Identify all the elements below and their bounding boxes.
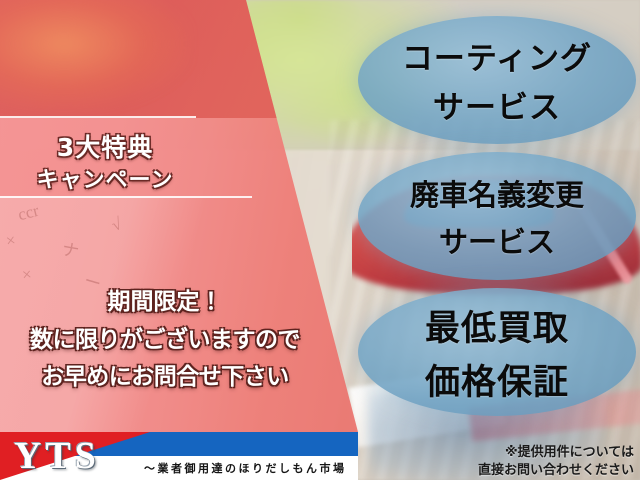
panel-top-glow [0, 0, 190, 110]
scribble-mark: × [5, 231, 17, 249]
divider-line-bottom [0, 196, 252, 198]
logo-wordmark: YTS [14, 434, 100, 478]
campaign-line-2: キャンペーン [0, 162, 210, 194]
benefit-oval-minimum-price-guarantee[interactable]: 最低買取 価格保証 [358, 288, 636, 416]
benefit-1-line-1: コーティング [402, 33, 592, 78]
promo-banner: ccr × ナ × ー √ 3大特典 キャンペーン 期間限定！ 数に限りがござい… [0, 0, 640, 480]
disclaimer-note: ※提供用件については 直接お問い合わせください [414, 444, 634, 479]
benefit-3-line-2: 価格保証 [425, 354, 569, 405]
benefit-1-line-2: サービス [433, 82, 561, 127]
limited-line-3: お早めにお問合せ下さい [0, 357, 330, 391]
benefit-oval-coating[interactable]: コーティング サービス [358, 16, 636, 144]
disclaimer-line-2: 直接お問い合わせください [414, 462, 634, 480]
scribble-mark: × [21, 266, 32, 284]
disclaimer-line-1: ※提供用件については [414, 444, 634, 462]
benefit-3-line-1: 最低買取 [425, 300, 569, 351]
logo-bar[interactable]: YTS 〜業者御用達のほりだしもん市場 [0, 432, 358, 480]
benefit-2-line-1: 廃車名義変更 [410, 172, 584, 214]
limited-line-1: 期間限定！ [0, 282, 330, 316]
benefit-2-line-2: サービス [439, 219, 555, 261]
limited-line-2: 数に限りがございますので [0, 320, 330, 354]
divider-line-top [0, 116, 196, 118]
benefit-oval-scrap-title-transfer[interactable]: 廃車名義変更 サービス [358, 152, 636, 280]
scribble-mark: ccr [16, 202, 40, 224]
scribble-mark: ナ [61, 241, 81, 261]
scribble-mark: √ [109, 215, 124, 234]
campaign-line-1: 3大特典 [0, 128, 210, 164]
logo-tagline: 〜業者御用達のほりだしもん市場 [144, 460, 347, 476]
limited-offer-text: 期間限定！ 数に限りがございますので お早めにお問合せ下さい [0, 282, 330, 391]
